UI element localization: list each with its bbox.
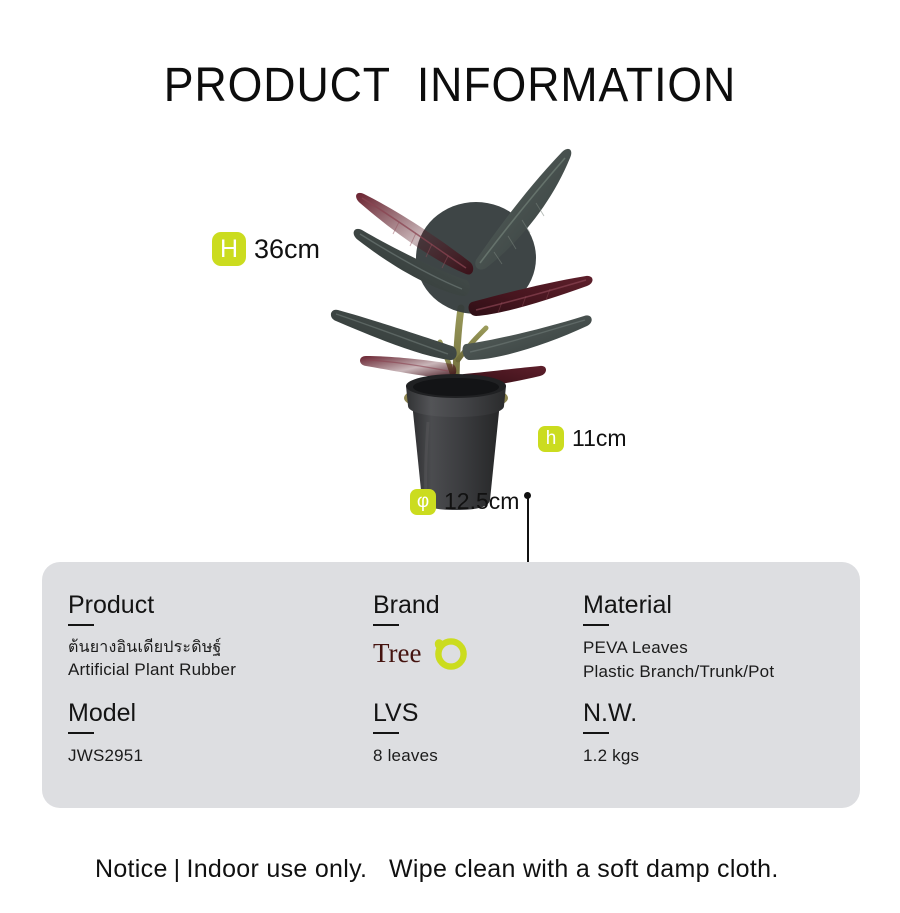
specification-grid: Product ต้นยางอินเดียประดิษฐ์ Artificial… [42,562,860,808]
pot-height-dimension: h 11cm [538,425,627,452]
overall-height-dimension: H 36cm [212,232,320,266]
product-hero: H 36cm h 11cm φ 12.5cm [0,120,900,540]
spec-brand-rule [373,624,399,626]
artificial-rubber-plant-image [280,130,640,530]
notice-label: Notice [95,855,168,883]
spec-product-rule [68,624,94,626]
spec-lvs-value: 8 leaves [373,744,583,769]
spec-model-value: JWS2951 [68,744,373,769]
spec-net-weight-rule [583,732,609,734]
spec-model-label: Model [68,700,373,728]
spec-product: Product ต้นยางอินเดียประดิษฐ์ Artificial… [68,592,373,700]
spec-lvs: LVS 8 leaves [373,700,583,808]
pot-diameter-badge-icon: φ [410,489,436,515]
notice-separator: | [168,855,187,883]
specification-panel: Product ต้นยางอินเดียประดิษฐ์ Artificial… [42,562,860,808]
spec-brand: Brand Tree [373,592,583,700]
pot-height-leader-dot-top [524,492,531,499]
product-information-page: PRODUCT INFORMATION [0,0,900,900]
spec-net-weight: N.W. 1.2 kgs [583,700,860,808]
spec-lvs-rule [373,732,399,734]
spec-product-value-thai: ต้นยางอินเดียประดิษฐ์ [68,636,373,658]
spec-material-rule [583,624,609,626]
spec-material-line-2: Plastic Branch/Trunk/Pot [583,660,860,685]
spec-net-weight-value: 1.2 kgs [583,744,860,769]
spec-model-rule [68,732,94,734]
spec-lvs-label: LVS [373,700,583,728]
treeo-logo-icon: Tree [373,636,477,670]
page-title: PRODUCT INFORMATION [32,58,869,113]
svg-text:Tree: Tree [373,638,422,668]
spec-net-weight-label: N.W. [583,700,860,728]
height-badge-icon: H [212,232,246,266]
overall-height-value: 36cm [254,234,320,265]
spec-product-value-english: Artificial Plant Rubber [68,658,373,683]
notice-text: Indoor use only. Wipe clean with a soft … [186,855,778,883]
spec-model: Model JWS2951 [68,700,373,808]
spec-material: Material PEVA Leaves Plastic Branch/Trun… [583,592,860,700]
spec-product-label: Product [68,592,373,620]
spec-brand-label: Brand [373,592,583,620]
pot-diameter-dimension: φ 12.5cm [410,488,519,515]
pot-height-value: 11cm [572,425,627,452]
brand-logo: Tree [373,636,583,670]
pot-diameter-value: 12.5cm [444,488,519,515]
pot-height-badge-icon: h [538,426,564,452]
spec-material-line-1: PEVA Leaves [583,636,860,661]
spec-material-label: Material [583,592,860,620]
